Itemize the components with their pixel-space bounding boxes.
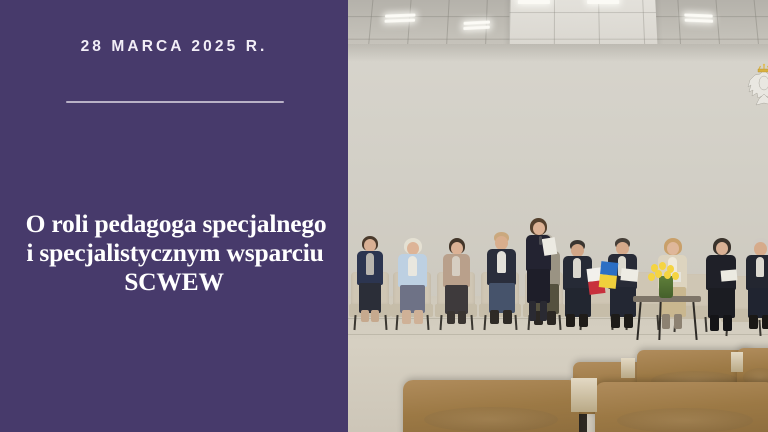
flower-bloom xyxy=(672,272,679,280)
flower-bloom xyxy=(664,271,671,279)
coffee-table xyxy=(633,296,701,340)
panelist xyxy=(703,238,741,334)
paper-sheet xyxy=(542,237,557,256)
table-leg xyxy=(636,302,641,340)
panelist xyxy=(395,238,431,330)
desk-divider xyxy=(571,378,597,412)
event-date: 28 MARCA 2025 R. xyxy=(0,38,348,56)
event-title: O roli pedagoga specjalnego i specjalist… xyxy=(0,209,348,296)
paper-sheet xyxy=(620,268,638,282)
polish-eagle-emblem-icon xyxy=(743,63,768,113)
table-leg xyxy=(692,302,697,340)
lecture-desk xyxy=(403,380,579,432)
lecture-desk xyxy=(595,382,768,432)
table-leg xyxy=(658,302,661,340)
flower-bouquet xyxy=(645,262,687,302)
event-title-line-3: SCWEW xyxy=(0,267,348,296)
flower-bloom xyxy=(648,273,655,281)
ceiling-lamp-icon xyxy=(587,0,619,4)
title-divider xyxy=(66,101,284,103)
conference-photo xyxy=(345,0,768,432)
panelist-speaker xyxy=(521,218,555,330)
title-panel: 28 MARCA 2025 R. O roli pedagoga specjal… xyxy=(0,0,348,432)
wall-shadow xyxy=(345,44,768,62)
panelist xyxy=(484,232,520,330)
desk-divider xyxy=(621,358,635,378)
flower-bloom xyxy=(655,270,662,278)
paper-sheet xyxy=(721,269,738,281)
desk-divider xyxy=(731,352,743,372)
panelist xyxy=(353,236,387,328)
flower-bloom xyxy=(659,262,666,270)
panelist xyxy=(440,238,474,330)
flower-stems xyxy=(659,276,673,298)
event-title-line-1: O roli pedagoga specjalnego xyxy=(4,209,348,238)
floor-seam xyxy=(345,334,768,335)
ukraine-flag-icon xyxy=(599,261,619,289)
panelist xyxy=(743,238,768,334)
ceiling-lamp-icon xyxy=(518,0,550,4)
microphone-icon xyxy=(539,236,542,245)
event-title-line-2: i specjalistycznym wsparciu xyxy=(2,238,348,267)
banner-stage: 28 MARCA 2025 R. O roli pedagoga specjal… xyxy=(0,0,768,432)
